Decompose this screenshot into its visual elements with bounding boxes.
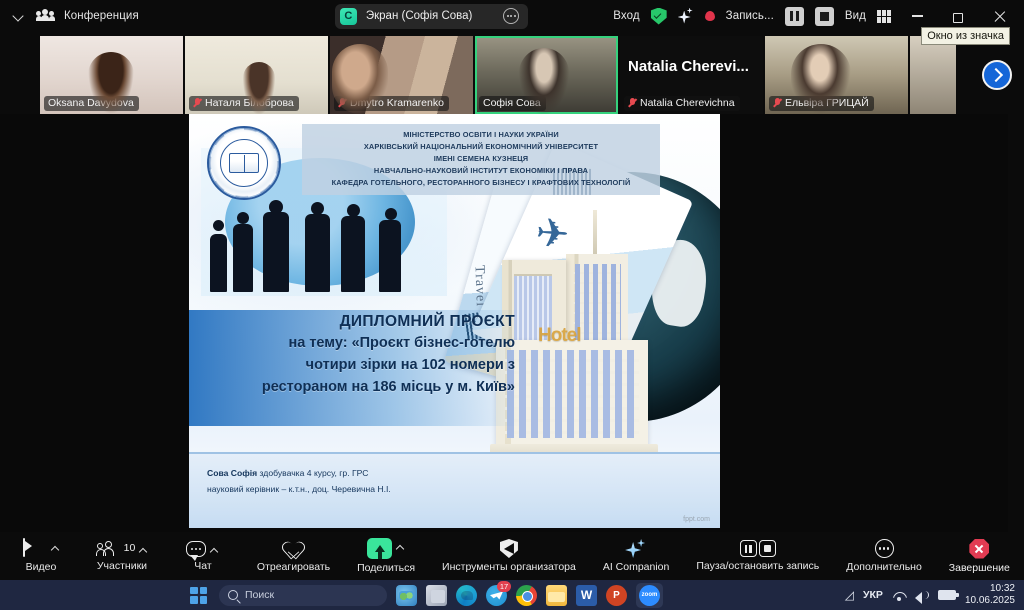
chevron-up-icon[interactable] <box>139 546 148 555</box>
control-label: Поделиться <box>357 562 415 574</box>
presentation-slide: Travel ✈ Hotel МІНІСТЕРСТВО ОСВІТИ І НАУ… <box>189 114 720 528</box>
chat-bubble-icon[interactable] <box>186 541 206 557</box>
login-label[interactable]: Вход <box>613 10 639 22</box>
control-chat[interactable]: Чат <box>176 541 230 572</box>
zoom-icon: zoom <box>639 585 660 606</box>
participant-tile-partial[interactable] <box>910 36 956 114</box>
hotel-building-graphic: Hotel <box>496 229 671 464</box>
header-line: МІНІСТЕРСТВО ОСВІТИ І НАУКИ УКРАЇНИ <box>308 129 654 141</box>
participant-tile[interactable]: Dmytro Kramarenko <box>330 36 473 114</box>
taskbar-clock[interactable]: 10:32 10.06.2025 <box>965 583 1015 608</box>
share-title: Экран (Софія Сова) <box>366 10 473 22</box>
telegram-badge: 17 <box>497 581 511 592</box>
participant-tile[interactable]: Natalia Cherevi... Natalia Cherevichna <box>620 36 763 114</box>
clock-date: 10.06.2025 <box>965 595 1015 608</box>
participant-tile-active[interactable]: Софія Сова <box>475 36 618 114</box>
control-label: AI Companion <box>603 561 670 573</box>
windows-start-icon[interactable] <box>190 587 207 604</box>
people-group-icon <box>36 9 54 23</box>
record-label[interactable]: Запись... <box>726 10 774 22</box>
university-seal-icon <box>207 126 281 200</box>
chevron-up-icon[interactable] <box>396 543 405 552</box>
control-host-tools[interactable]: Инструменты организатора <box>442 539 576 573</box>
window-tooltip: Окно из значка <box>921 27 1010 45</box>
supervisor-line: науковий керівник – к.т.н., доц. Черевич… <box>207 482 391 498</box>
chevron-right-icon[interactable] <box>982 60 1012 90</box>
heart-icon[interactable] <box>284 540 304 558</box>
participant-display-name: Natalia Cherevi... <box>628 58 749 75</box>
title-line: рестораном на 186 місць у м. Київ» <box>199 377 515 399</box>
control-label: Инструменты организатора <box>442 561 576 573</box>
pause-icon[interactable] <box>740 540 757 557</box>
control-share[interactable]: Поделиться <box>357 538 415 574</box>
header-line: ХАРКІВСЬКИЙ НАЦІОНАЛЬНИЙ ЕКОНОМІЧНИЙ УНІ… <box>308 141 654 153</box>
slide-author-block: Сова Софія здобувачка 4 курсу, гр. ГРС н… <box>207 466 391 498</box>
control-label: Завершение <box>949 562 1010 574</box>
taskbar-search-box[interactable]: Поиск <box>219 585 387 606</box>
control-ai-companion[interactable]: AI Companion <box>603 539 670 573</box>
control-label: Отреагировать <box>257 561 330 573</box>
mic-muted-icon <box>338 98 346 109</box>
slide-watermark: fppt.com <box>683 516 710 523</box>
telegram-icon[interactable]: 17 <box>486 585 507 606</box>
participant-tile[interactable]: Oksana Davydova <box>40 36 183 114</box>
shared-screen-stage: Travel ✈ Hotel МІНІСТЕРСТВО ОСВІТИ І НАУ… <box>0 114 1008 532</box>
control-label: Пауза/остановить запись <box>696 560 819 572</box>
meeting-label: Конференция <box>64 10 139 22</box>
control-label: Видео <box>26 561 57 573</box>
control-more[interactable]: Дополнительно <box>846 539 922 573</box>
header-line: КАФЕДРА ГОТЕЛЬНОГО, РЕСТОРАННОГО БІЗНЕСУ… <box>308 177 654 189</box>
slide-title: ДИПЛОМНИЙ ПРОЄКТ на тему: «Проєкт бізнес… <box>199 310 519 399</box>
show-hidden-icons-icon[interactable]: ◿ <box>845 588 854 602</box>
participants-icon[interactable] <box>96 541 118 557</box>
mic-muted-icon <box>628 98 636 109</box>
chevron-up-icon[interactable] <box>210 546 219 555</box>
participant-tile[interactable]: Ельвіра ГРИЦАЙ <box>765 36 908 114</box>
sparkle-icon[interactable] <box>625 539 647 558</box>
participant-name-tag: Ельвіра ГРИЦАЙ <box>769 96 874 111</box>
participant-name-tag: Наталя Білоброва <box>189 96 299 111</box>
task-view-icon[interactable] <box>426 585 447 606</box>
pause-icon[interactable] <box>785 7 804 26</box>
zoom-taskbar-item[interactable]: zoom <box>636 583 663 608</box>
mic-muted-icon <box>193 98 201 109</box>
screen-share-indicator[interactable]: C Экран (Софія Сова) <box>335 4 529 29</box>
weather-icon[interactable] <box>396 585 417 606</box>
slide-header-text: МІНІСТЕРСТВО ОСВІТИ І НАУКИ УКРАЇНИ ХАРК… <box>302 124 660 195</box>
powerpoint-icon[interactable]: P <box>606 585 627 606</box>
header-line: ІМЕНІ СЕМЕНА КУЗНЕЦЯ <box>308 153 654 165</box>
search-placeholder: Поиск <box>245 589 274 601</box>
participant-name-tag: Dmytro Kramarenko <box>334 96 449 111</box>
record-dot-icon <box>705 11 715 21</box>
stop-icon[interactable] <box>815 7 834 26</box>
control-end-meeting[interactable]: Завершение <box>949 539 1010 574</box>
zoom-top-bar: Конференция C Экран (Софія Сова) Вход За… <box>0 0 1024 32</box>
end-call-icon[interactable] <box>969 539 989 559</box>
ellipsis-icon[interactable] <box>875 539 894 558</box>
share-screen-icon[interactable] <box>367 538 392 559</box>
chevron-down-icon[interactable] <box>12 9 26 23</box>
clock-time: 10:32 <box>965 583 1015 596</box>
grid-layout-icon[interactable] <box>877 10 891 23</box>
stop-icon[interactable] <box>759 540 776 557</box>
title-line: чотири зірки на 102 номери з <box>199 355 515 377</box>
control-label: Дополнительно <box>846 561 922 573</box>
ellipsis-circle-icon[interactable] <box>503 8 519 24</box>
participant-filmstrip: Oksana Davydova Наталя Білоброва Dmytro … <box>0 36 1024 114</box>
system-tray: ◿ УКР 10:32 10.06.2025 <box>845 583 1024 608</box>
control-participants[interactable]: 10 Участники <box>95 541 149 572</box>
windows-taskbar: Поиск 17 W P zoom ◿ УКР 10:32 10.06 <box>0 580 1024 610</box>
control-label: Участники <box>97 560 147 572</box>
share-app-icon: C <box>340 8 357 25</box>
shield-check-icon[interactable] <box>651 8 667 25</box>
word-icon[interactable]: W <box>576 585 597 606</box>
participant-tile[interactable]: Наталя Білоброва <box>185 36 328 114</box>
author-details: здобувачка 4 курсу, гр. ГРС <box>257 468 368 478</box>
search-icon <box>228 590 238 600</box>
participants-count: 10 <box>124 542 136 554</box>
camera-icon[interactable] <box>23 539 47 558</box>
control-react[interactable]: Отреагировать <box>257 540 330 573</box>
file-explorer-icon[interactable] <box>546 585 567 606</box>
participant-name-tag: Oksana Davydova <box>44 96 139 111</box>
battery-icon[interactable] <box>938 590 956 600</box>
volume-icon[interactable] <box>915 589 929 601</box>
participant-name-tag: Софія Сова <box>479 96 546 111</box>
wifi-icon[interactable] <box>892 590 906 601</box>
control-label: Чат <box>194 560 211 572</box>
title-line: на тему: «Проєкт бізнес-готелю <box>199 333 515 355</box>
language-indicator[interactable]: УКР <box>863 589 883 601</box>
chrome-icon[interactable] <box>516 585 537 606</box>
view-label[interactable]: Вид <box>845 10 866 22</box>
sparkle-icon[interactable] <box>678 8 694 25</box>
author-name: Сова Софія <box>207 468 257 478</box>
shield-icon[interactable] <box>500 539 518 558</box>
control-record[interactable]: Пауза/остановить запись <box>696 540 819 572</box>
zoom-control-bar: Видео 10 Участники Чат Отреагировать <box>0 532 1024 580</box>
zoom-meeting-window: Конференция C Экран (Софія Сова) Вход За… <box>0 0 1024 610</box>
hotel-sign-text: Hotel <box>538 325 581 347</box>
participant-name-tag: Natalia Cherevichna <box>624 96 740 111</box>
chevron-up-icon[interactable] <box>51 544 60 553</box>
title-line: ДИПЛОМНИЙ ПРОЄКТ <box>199 310 515 333</box>
mic-muted-icon <box>773 98 781 109</box>
control-video[interactable]: Видео <box>14 539 68 573</box>
header-line: НАВЧАЛЬНО-НАУКОВИЙ ІНСТИТУТ ЕКОНОМІКИ І … <box>308 165 654 177</box>
edge-icon[interactable] <box>456 585 477 606</box>
